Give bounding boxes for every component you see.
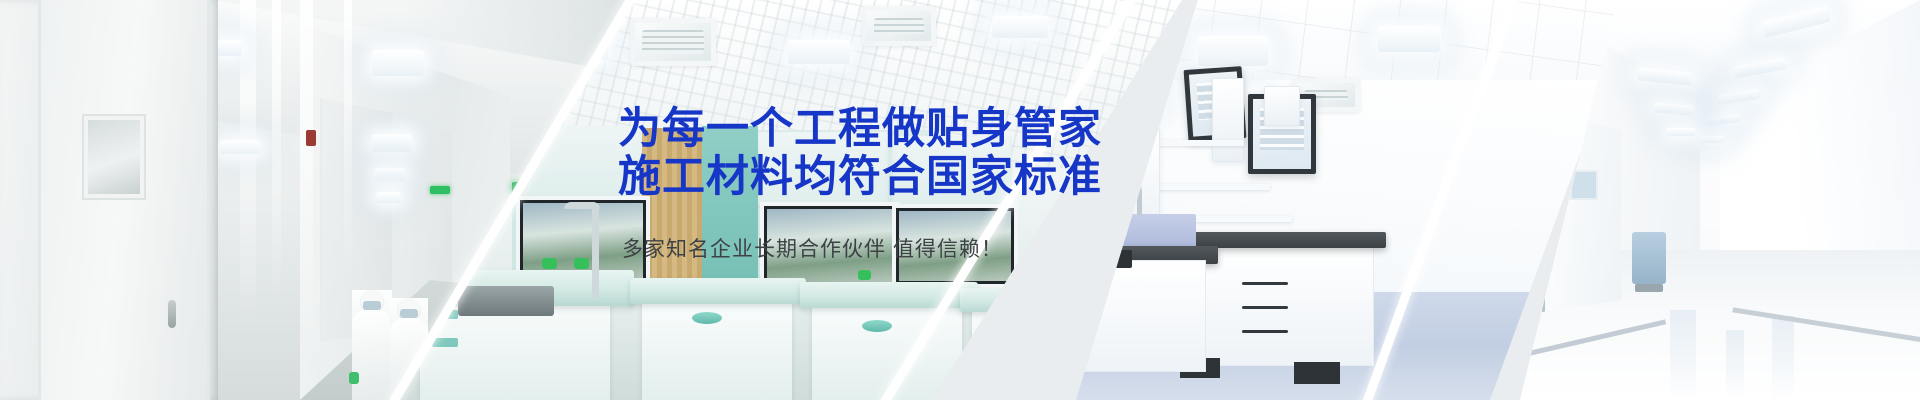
worker-glove [349,372,359,384]
bench-kickplate [1294,362,1340,384]
face-mask-icon [400,309,418,318]
island-cabinet [1076,260,1206,372]
medical-trolley [1632,232,1666,284]
door-vision-panel [84,116,144,198]
ceiling-lamp [376,192,401,203]
ceiling-lamp [220,140,260,154]
bench-drawer-pull [432,338,458,347]
light-streak [344,0,352,280]
wood-slat-accent [642,128,702,288]
drawer-pull [1242,306,1288,309]
lab-bench-top [630,278,806,304]
worker-figure [352,290,392,400]
floor-reflection [1726,330,1744,400]
ceiling-strip-light [1698,136,1724,143]
floor-reflection [1670,310,1696,400]
lab-stool [692,312,722,324]
wall-cabinet [1212,78,1244,162]
green-tap-handle [542,258,557,269]
lab-window [764,206,896,286]
green-tap-handle [1106,204,1119,214]
hero-banner: 为每一个工程做贴身管家 施工材料均符合国家标准 多家知名企业长期合作伙伴 值得信… [0,0,1920,400]
ceiling-panel-light [992,16,1048,38]
drawer-pull [1242,330,1288,333]
green-tap-handle [574,258,589,269]
ceiling-panel-light [1378,26,1440,52]
teal-wall-accent [702,126,758,291]
light-streak [240,0,256,330]
wall-shelf [1134,140,1244,146]
lab-bench-cabinet [642,296,792,400]
worker-coverall [352,310,392,400]
gooseneck-tap [592,206,599,298]
light-streak [272,0,281,300]
floor-reflection [1772,316,1794,400]
ceiling-strip-light [1666,128,1696,136]
gooseneck-tap [564,202,600,209]
window-shade [758,132,888,208]
green-tap-handle [1018,276,1031,286]
bench-sink [458,286,554,316]
gooseneck-tap [1092,168,1142,215]
ceiling-lamp [372,134,412,152]
wall-shelf [1146,184,1270,190]
window-shade [892,136,1012,208]
exit-sign [430,186,450,194]
face-mask-icon [363,301,381,310]
ceiling-panel-light [788,40,850,64]
fire-alarm-icon [306,130,316,146]
door-handle [168,300,176,328]
wall-cabinet [1264,86,1300,126]
green-tap-handle [858,270,871,280]
ac-diffuser-icon [630,18,716,66]
ceiling-lamp [372,50,424,76]
ceiling-panel-light [1198,36,1268,66]
ceiling-lamp [374,168,406,182]
drawer-pull [1242,282,1288,285]
green-tap-handle [1078,204,1091,214]
door-vision-panel [1570,170,1598,200]
door-frame [38,0,210,400]
lab-stool [862,320,892,332]
ac-diffuser-icon [862,6,936,46]
bench-sink [1076,250,1132,268]
light-streak [300,0,313,340]
